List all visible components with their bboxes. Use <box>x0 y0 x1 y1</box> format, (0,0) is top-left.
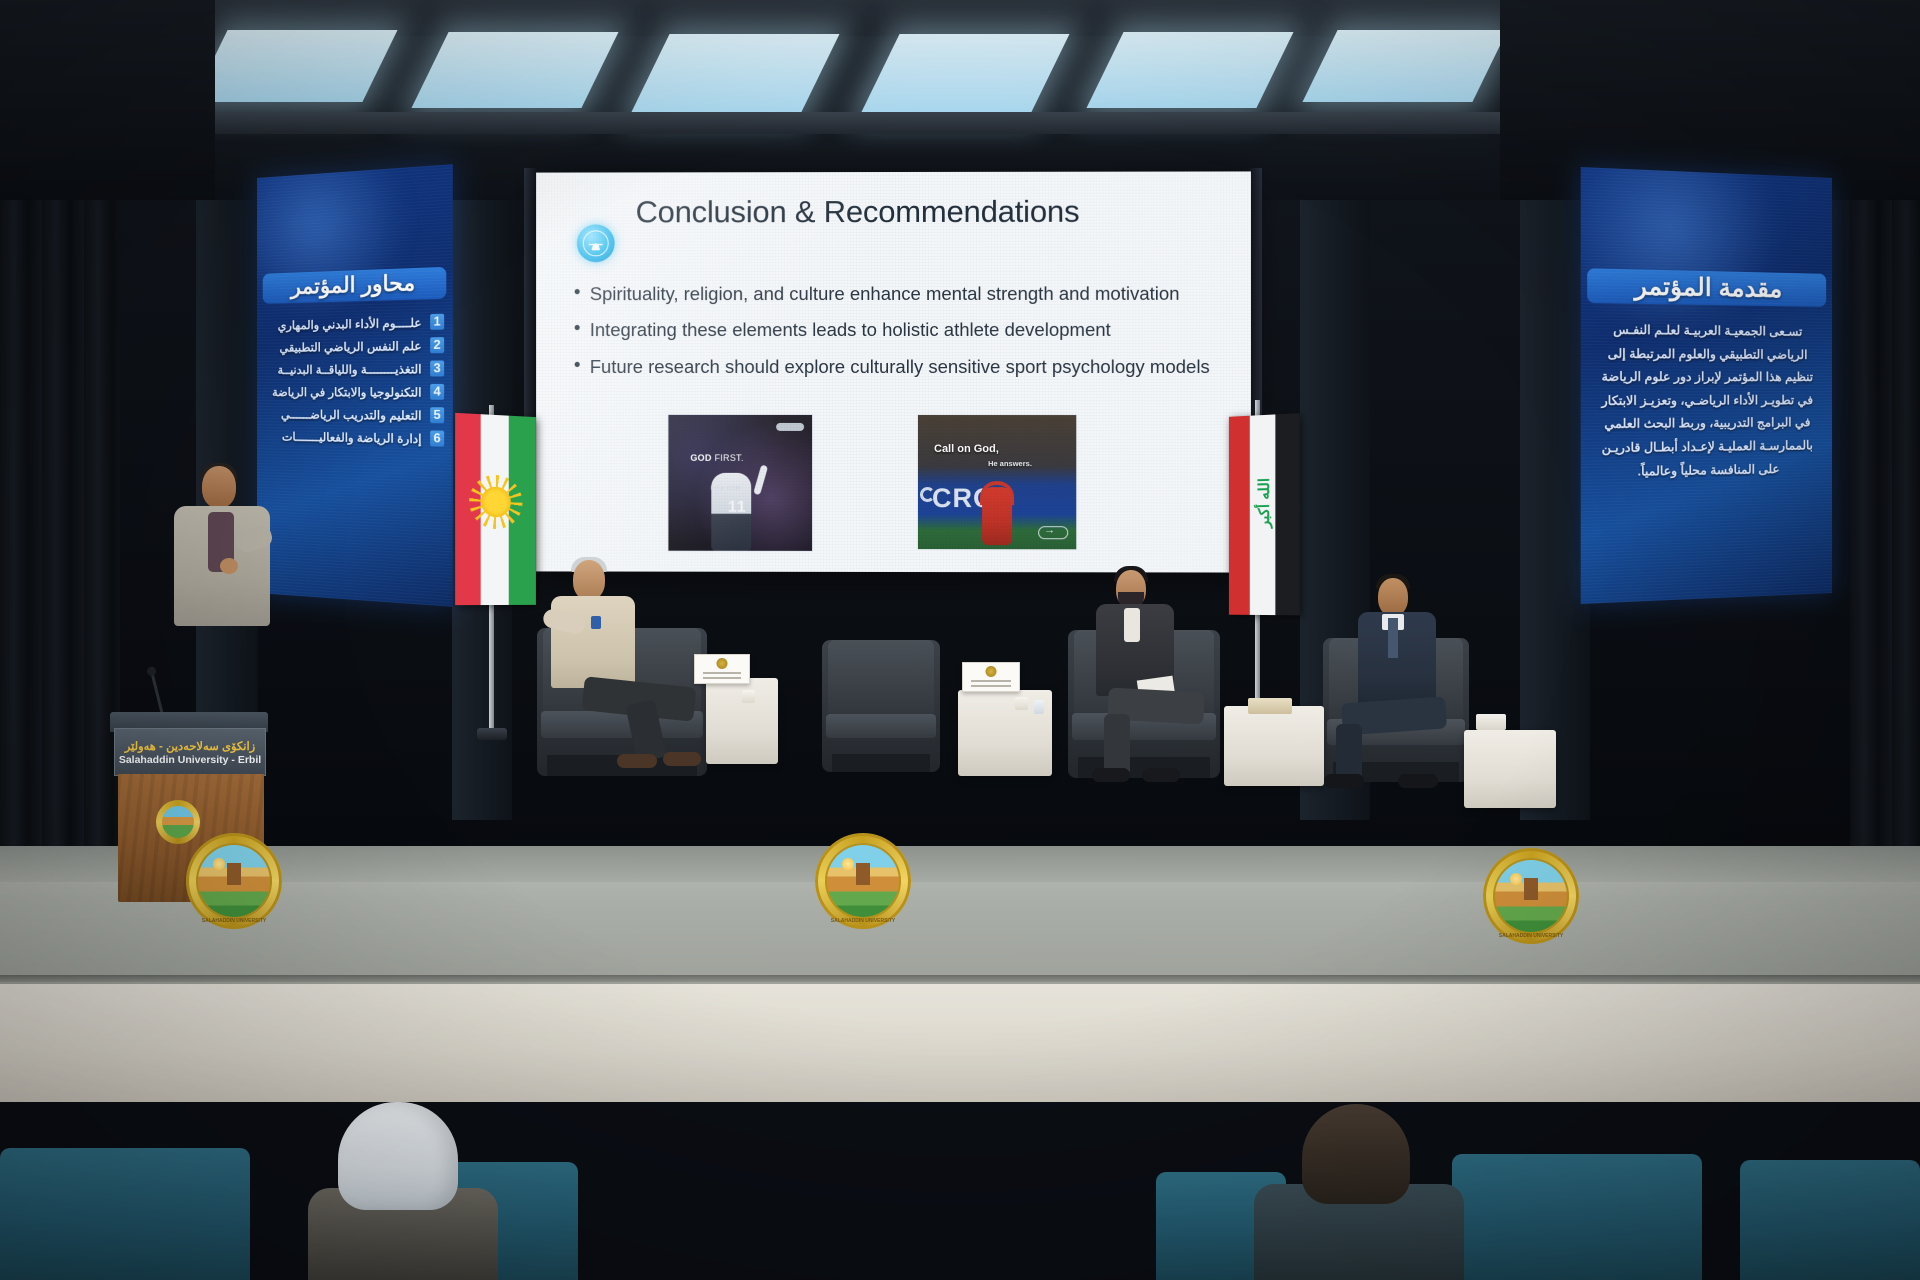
crest-caption: SALAHADDIN UNIVERSITY <box>186 918 282 924</box>
ceiling-left-shadow <box>0 0 215 205</box>
led-screen-conference-introduction: مقدمة المؤتمر تسـعى الجمعيـة العربيـة لع… <box>1581 167 1832 604</box>
slide-bullet: Integrating these elements leads to holi… <box>572 318 1221 342</box>
shoe <box>617 754 657 768</box>
sun-disc-icon <box>479 485 512 520</box>
caption-bold: GOD <box>690 453 711 463</box>
topic-number: 4 <box>430 384 444 400</box>
screen-glow <box>1581 167 1778 337</box>
head <box>202 466 236 508</box>
stage-curtain-right <box>1850 200 1920 940</box>
name-card-line <box>703 672 742 674</box>
water-cup <box>742 690 755 703</box>
topic-number: 5 <box>430 407 444 423</box>
head <box>573 560 605 600</box>
ceiling-light-panel <box>1302 30 1507 102</box>
intro-line: تسـعى الجمعيـة العربيـة لعلـم النفـس <box>1591 323 1822 339</box>
raised-arm-shape <box>753 465 768 496</box>
topic-label: التغذيــــــــة واللياقــة البدنيــة <box>265 361 422 376</box>
iraq-flag: الله أكبر <box>1229 413 1300 615</box>
shoe <box>1092 768 1130 782</box>
crest-caption: SALAHADDIN UNIVERSITY <box>815 918 911 924</box>
shoe <box>663 752 701 766</box>
takbir-script: الله أكبر <box>1255 478 1273 528</box>
intro-line: في البرامج التدريبية، وربط البحث العلمي <box>1591 416 1822 431</box>
panelist-seated-right <box>1336 578 1482 790</box>
audience-foreground <box>0 1090 1920 1280</box>
jersey-number: 11 <box>728 499 747 517</box>
topic-item: 2 علم النفس الرياضي التطبيقي <box>265 337 444 355</box>
armchair-empty <box>822 640 940 772</box>
topic-item: 4 التكنولوجيا والابتكار في الرياضة <box>265 384 444 400</box>
topics-panel-header: محاور المؤتمر <box>263 267 447 304</box>
shoe <box>1142 768 1180 782</box>
topic-label: التعليم والتدريب الرياضــــــي <box>265 407 422 423</box>
stage-curtain-left <box>0 200 120 940</box>
wall-pillar <box>1520 200 1590 820</box>
audience-member-white-headscarf <box>300 1100 530 1280</box>
crest-icon <box>717 658 728 669</box>
intro-panel-header: مقدمة المؤتمر <box>1587 268 1826 307</box>
sponsor-mark: FIFA.COM <box>711 486 742 492</box>
name-card-line <box>703 677 742 679</box>
podium-sign: زانکۆی سەلاحەدین - هەولێر Salahaddin Uni… <box>114 728 266 776</box>
audience-member-right <box>1250 1090 1470 1280</box>
ceiling-light-panel <box>411 32 618 108</box>
chair-back <box>828 640 934 714</box>
intro-line: الرياضي التطبيقي والعلوم المرتبطة إلى <box>1591 347 1822 361</box>
necktie <box>1388 618 1398 658</box>
god-first-photo: GOD FIRST. FIFA.COM 11 <box>667 414 813 552</box>
shoe <box>1324 774 1364 788</box>
shoe <box>1398 774 1438 788</box>
torso-jacket <box>551 596 635 688</box>
name-card-line <box>971 685 1011 687</box>
shirt <box>1124 608 1140 642</box>
university-crest-icon: SALAHADDIN UNIVERSITY <box>815 833 911 929</box>
audience-seat <box>0 1148 250 1280</box>
kurdistan-flag <box>455 413 536 605</box>
sponsor-pill-icon <box>776 423 804 431</box>
seal-glyph <box>589 238 603 250</box>
crest-icon <box>986 666 997 677</box>
slide-bullet-list: Spirituality, religion, and culture enha… <box>572 282 1221 392</box>
topic-label: التكنولوجيا والابتكار في الرياضة <box>265 384 422 399</box>
topic-number: 3 <box>430 361 444 377</box>
ceiling-light-panel <box>1086 32 1293 108</box>
topic-label: إدارة الرياضة والفعاليـــــــات <box>265 429 422 446</box>
slide-bullet: Spirituality, religion, and culture enha… <box>572 282 1221 306</box>
god-first-caption: GOD FIRST. <box>690 453 743 463</box>
university-crest-icon <box>156 800 200 844</box>
slide-bullet: Future research should explore culturall… <box>572 355 1221 379</box>
stage-floor-rear-strip <box>0 846 1920 882</box>
lanyard-badge <box>591 616 601 629</box>
ceiling-light-panel <box>630 34 839 114</box>
water-glass <box>1034 700 1044 714</box>
call-on-god-photo: Call on God, He answers. CRO <box>917 414 1077 550</box>
intro-line: على المنافسة محلياً وعالمياً. <box>1591 462 1822 479</box>
topic-item: 3 التغذيــــــــة واللياقــة البدنيــة <box>265 361 444 377</box>
topic-item: 6 إدارة الرياضة والفعاليـــــــات <box>265 428 444 447</box>
crest-inner <box>196 843 272 919</box>
audience-head <box>1302 1104 1410 1204</box>
tissue-box <box>1248 698 1292 714</box>
name-card-line <box>971 680 1011 682</box>
topic-label: علم النفس الرياضي التطبيقي <box>265 338 422 354</box>
topic-label: علــــوم الأداء البدني والمهاري <box>265 315 422 333</box>
panelist-seated-left <box>545 560 705 780</box>
conference-stage-photo: محاور المؤتمر 1 علــــوم الأداء البدني و… <box>0 0 1920 1280</box>
kneeling-athlete-figure <box>982 487 1012 545</box>
crest-inner <box>825 843 901 919</box>
intro-paragraph: تسـعى الجمعيـة العربيـة لعلـم النفـس الر… <box>1591 323 1822 489</box>
topic-number: 1 <box>430 314 444 330</box>
name-card <box>962 662 1020 692</box>
presenter-at-podium <box>168 466 276 716</box>
arrow-right-icon <box>1038 526 1068 539</box>
flag-base <box>477 728 507 740</box>
topic-item: 5 التعليم والتدريب الرياضــــــي <box>265 406 444 423</box>
audience-seat <box>1740 1160 1920 1280</box>
projection-screen: Conclusion & Recommendations Spiritualit… <box>536 171 1251 572</box>
chair-legs <box>832 754 930 772</box>
water-cup <box>1015 697 1028 710</box>
call-on-god-caption-line1: Call on God, <box>934 443 999 455</box>
head <box>1378 578 1408 616</box>
caption-rest: FIRST. <box>712 453 744 463</box>
slide-title: Conclusion & Recommendations <box>636 194 1223 231</box>
intro-line: تنظيم هذا المؤتمر لإبراز دور علوم الرياض… <box>1591 370 1822 383</box>
podium-name-kurdish: زانکۆی سەلاحەدین - هەولێر <box>125 739 255 753</box>
slide-image-group: GOD FIRST. FIFA.COM 11 Call on God, He a… <box>667 414 1187 555</box>
hand <box>220 558 238 574</box>
university-crest-icon: SALAHADDIN UNIVERSITY <box>186 833 282 929</box>
panelist-seated-center-right <box>1080 570 1230 784</box>
intro-line: في تطويـر الأداء الرياضـي، وتعزيـز الابت… <box>1591 394 1822 408</box>
led-screen-conference-topics: محاور المؤتمر 1 علــــوم الأداء البدني و… <box>257 164 453 607</box>
shin <box>1104 714 1130 776</box>
call-on-god-caption-line2: He answers. <box>988 459 1032 468</box>
audience-seat <box>1452 1154 1702 1280</box>
topics-list: 1 علــــوم الأداء البدني والمهاري 2 علم … <box>265 314 444 454</box>
topic-number: 6 <box>430 430 444 446</box>
headscarf <box>338 1102 458 1210</box>
university-crest-icon: SALAHADDIN UNIVERSITY <box>1483 848 1579 944</box>
crest-inner <box>1493 858 1569 934</box>
association-seal-icon <box>577 224 615 262</box>
intro-line: بالممارسـة العمليـة لإعـداد أبطـال قادري… <box>1591 439 1822 455</box>
side-table <box>1224 706 1324 786</box>
ceiling-light-panel <box>192 30 397 102</box>
topic-item: 1 علــــوم الأداء البدني والمهاري <box>265 314 444 333</box>
ceiling-light-panel <box>860 34 1069 114</box>
crest-caption: SALAHADDIN UNIVERSITY <box>1483 933 1579 939</box>
podium-name-english: Salahaddin University - Erbil <box>119 754 261 766</box>
stage-front-fascia <box>0 982 1920 1102</box>
chair-cushion <box>826 714 936 738</box>
topic-number: 2 <box>430 337 444 353</box>
